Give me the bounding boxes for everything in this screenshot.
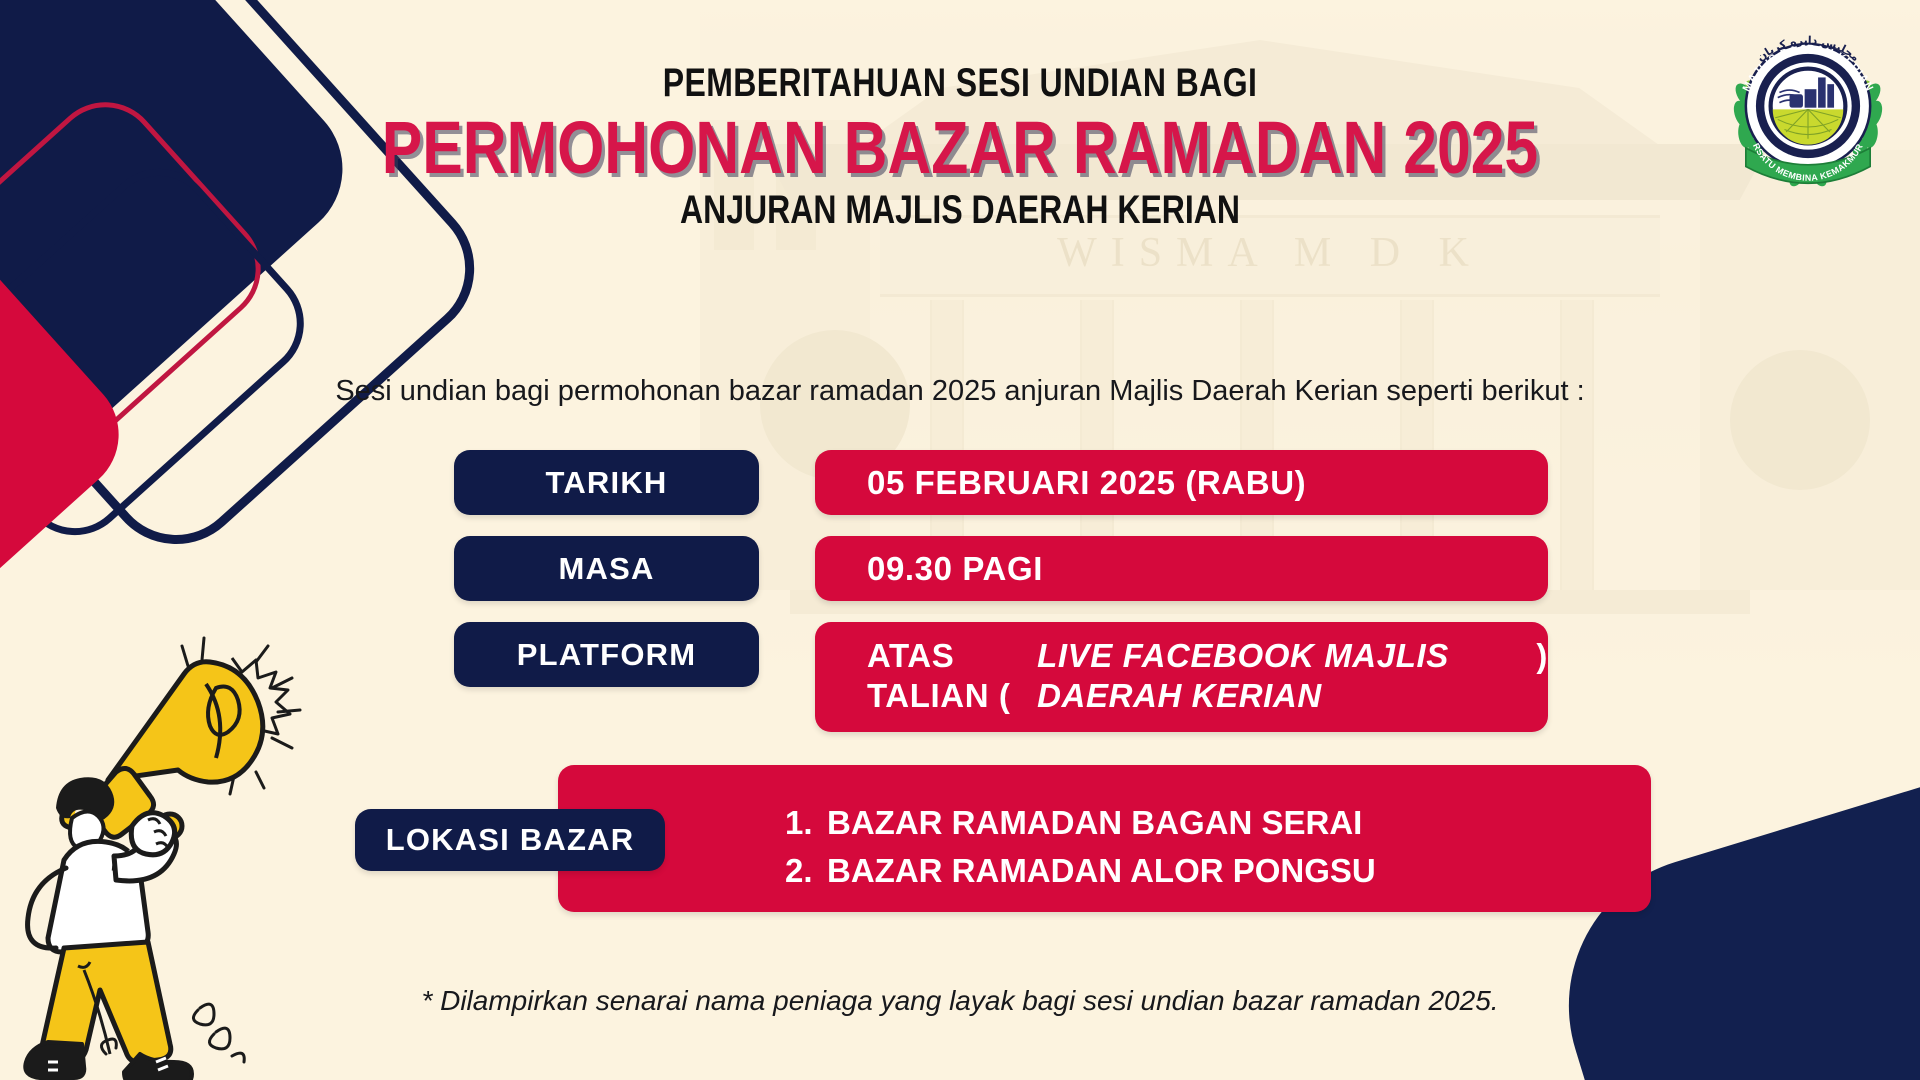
location-list: 1.BAZAR RAMADAN BAGAN SERAI 2.BAZAR RAMA… — [785, 799, 1376, 895]
list-item: 1.BAZAR RAMADAN BAGAN SERAI — [785, 799, 1376, 847]
page-title: PERMOHONAN BAZAR RAMADAN 2025 — [173, 110, 1747, 185]
row-label-masa: MASA — [454, 536, 759, 601]
list-item-label: BAZAR RAMADAN ALOR PONGSU — [827, 852, 1376, 889]
person-with-megaphone-illustration — [20, 630, 350, 1080]
poster-header: PEMBERITAHUAN SESI UNDIAN BAGI PERMOHONA… — [0, 62, 1920, 231]
row-value-platform: ATAS TALIAN (LIVE FACEBOOK MAJLIS DAERAH… — [815, 622, 1548, 732]
platform-value-suffix: ) — [1536, 636, 1548, 676]
list-item-number: 2. — [785, 847, 827, 895]
list-item-number: 1. — [785, 799, 827, 847]
platform-value-italic: LIVE FACEBOOK MAJLIS DAERAH KERIAN — [1037, 636, 1536, 717]
list-item: 2.BAZAR RAMADAN ALOR PONGSU — [785, 847, 1376, 895]
row-label-tarikh: TARIKH — [454, 450, 759, 515]
header-line-3: ANJURAN MAJLIS DAERAH KERIAN — [192, 189, 1728, 231]
poster-canvas: WISMA M D K — [0, 0, 1920, 1080]
row-label-platform: PLATFORM — [454, 622, 759, 687]
intro-paragraph: Sesi undian bagi permohonan bazar ramada… — [0, 375, 1920, 408]
table-row: TARIKH 05 FEBRUARI 2025 (RABU) — [0, 450, 1920, 536]
row-label-lokasi-bazar: LOKASI BAZAR — [355, 809, 665, 871]
platform-value-prefix: ATAS TALIAN ( — [867, 636, 1037, 717]
header-line-1: PEMBERITAHUAN SESI UNDIAN BAGI — [192, 62, 1728, 104]
table-row: MASA 09.30 PAGI — [0, 536, 1920, 622]
row-value-masa: 09.30 PAGI — [815, 536, 1548, 601]
row-value-tarikh: 05 FEBRUARI 2025 (RABU) — [815, 450, 1548, 515]
list-item-label: BAZAR RAMADAN BAGAN SERAI — [827, 804, 1362, 841]
